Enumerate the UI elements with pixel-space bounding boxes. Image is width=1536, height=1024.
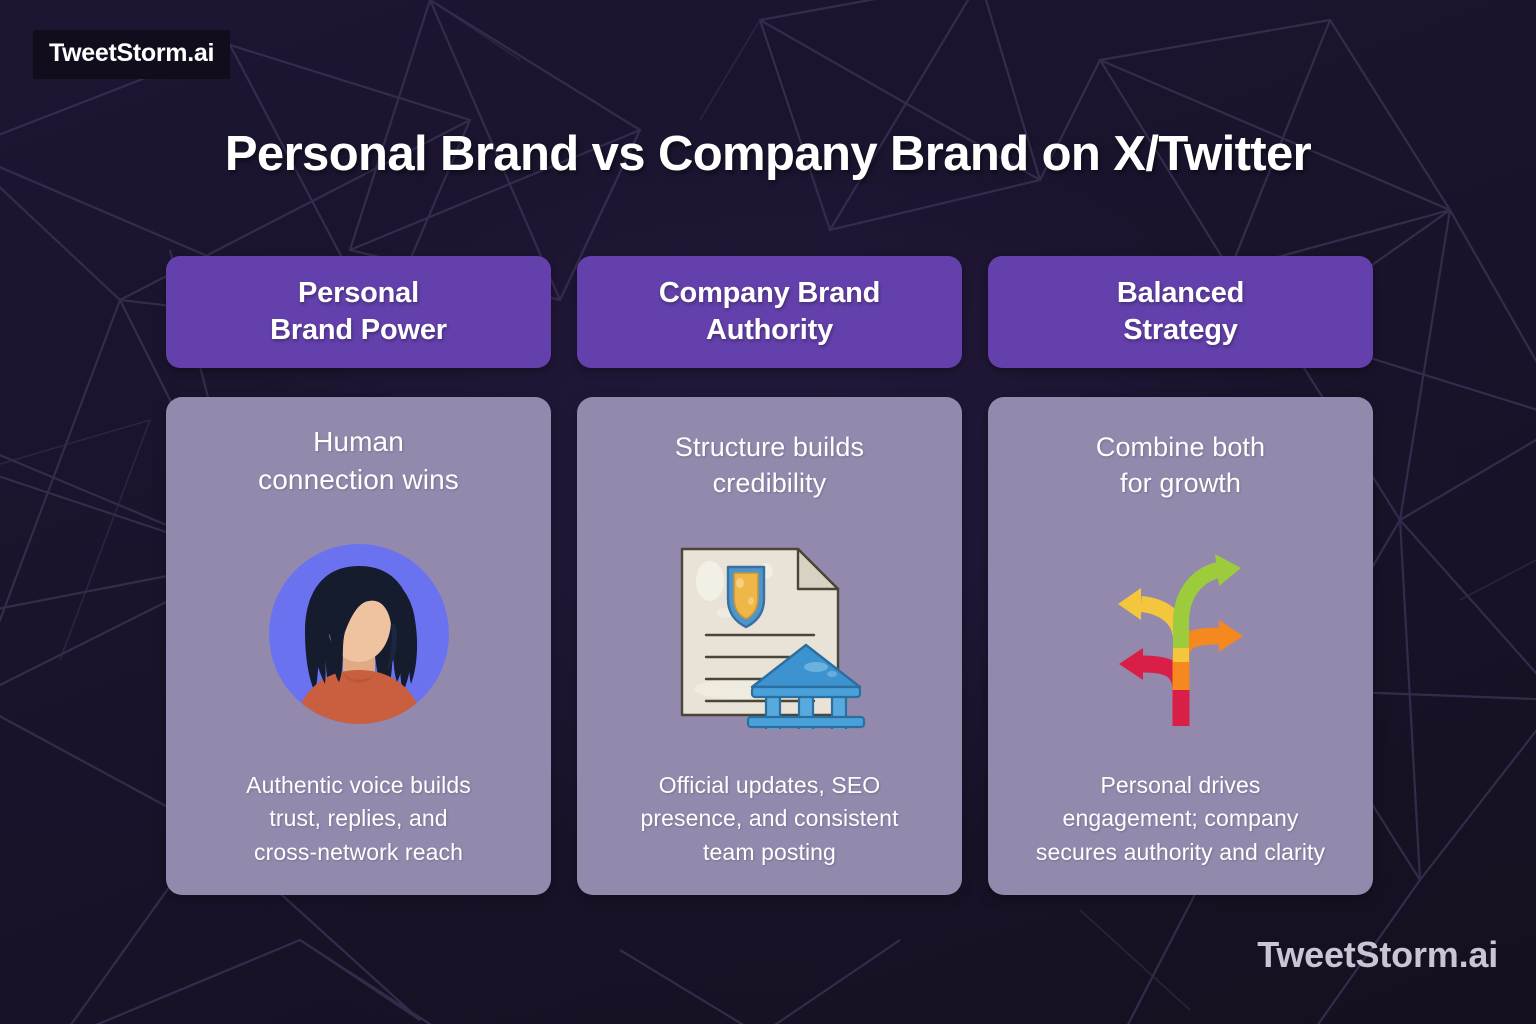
column-illustration-slot bbox=[595, 502, 944, 769]
column-header-label: Company Brand Authority bbox=[659, 275, 880, 349]
page-title: Personal Brand vs Company Brand on X/Twi… bbox=[0, 126, 1536, 182]
column-body-balanced-strategy: Combine both for growth bbox=[988, 397, 1373, 895]
column-header-balanced-strategy: Balanced Strategy bbox=[988, 256, 1373, 368]
logo-badge: TweetStorm.ai bbox=[33, 30, 230, 79]
branching-arrows-icon bbox=[1091, 540, 1271, 730]
column-header-label: Personal Brand Power bbox=[270, 275, 447, 349]
column-illustration-slot bbox=[184, 499, 533, 769]
column-personal-brand: Personal Brand Power Human connection wi… bbox=[166, 256, 551, 895]
column-body-personal-brand: Human connection wins bbox=[166, 397, 551, 895]
column-company-brand: Company Brand Authority Structure builds… bbox=[577, 256, 962, 895]
column-header-personal-brand: Personal Brand Power bbox=[166, 256, 551, 368]
column-header-company-brand: Company Brand Authority bbox=[577, 256, 962, 368]
comparison-columns: Personal Brand Power Human connection wi… bbox=[166, 256, 1373, 895]
woman-avatar-icon bbox=[265, 540, 453, 728]
column-illustration-slot bbox=[1006, 502, 1355, 769]
watermark: TweetStorm.ai bbox=[1257, 934, 1498, 976]
column-balanced-strategy: Balanced Strategy Combine both for growt… bbox=[988, 256, 1373, 895]
column-lead-text: Combine both for growth bbox=[1096, 429, 1265, 502]
column-caption: Personal drives engagement; company secu… bbox=[1036, 769, 1325, 869]
infographic-canvas: TweetStorm.ai Personal Brand vs Company … bbox=[0, 0, 1536, 1024]
certified-document-bank-icon bbox=[670, 541, 870, 729]
column-body-company-brand: Structure builds credibility bbox=[577, 397, 962, 895]
column-caption: Official updates, SEO presence, and cons… bbox=[640, 769, 898, 869]
column-lead-text: Structure builds credibility bbox=[675, 429, 864, 502]
column-header-label: Balanced Strategy bbox=[1117, 275, 1244, 349]
column-caption: Authentic voice builds trust, replies, a… bbox=[246, 769, 471, 869]
column-lead-text: Human connection wins bbox=[258, 423, 459, 499]
logo-badge-text: TweetStorm.ai bbox=[49, 39, 214, 67]
